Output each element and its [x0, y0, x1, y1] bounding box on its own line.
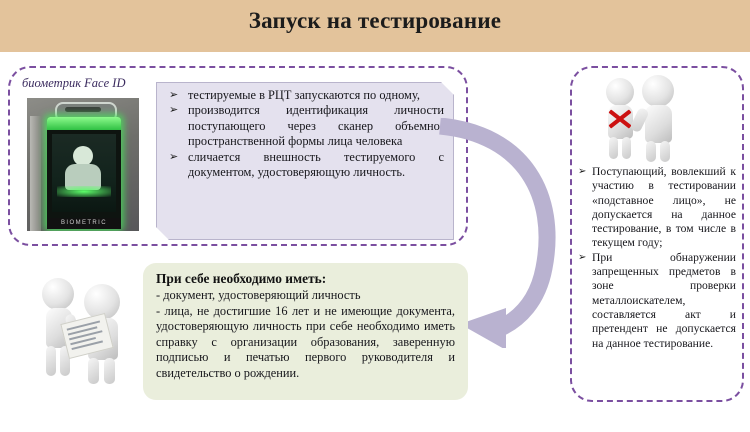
arrow-bullet-icon: ➢ — [578, 251, 586, 265]
figure-torso — [645, 105, 672, 143]
figure-head — [642, 75, 674, 107]
kiosk-pole — [30, 116, 41, 231]
arrow-bullet-icon: ➢ — [169, 103, 178, 118]
figure-leg — [88, 358, 99, 384]
figures-reading-document — [24, 262, 144, 384]
kiosk-camera-slot — [65, 107, 101, 112]
procedure-item-1-text: тестируемые в РЦТ запускаются по одному, — [188, 88, 420, 102]
figure-head — [606, 78, 634, 106]
violation-item-2-text: При обнаружении запрещенных предметов в … — [592, 251, 736, 350]
requirements-panel: При себе необходимо иметь: - документ, у… — [143, 263, 468, 400]
procedure-item-1: ➢ тестируемые в РЦТ запускаются по одном… — [166, 88, 444, 103]
arrow-bullet-icon: ➢ — [578, 165, 586, 179]
violation-item-1: ➢ Поступающий, вовлекший к участию в тес… — [578, 165, 736, 251]
scanned-face-head — [73, 146, 93, 166]
red-x-icon — [607, 106, 633, 132]
figure-head — [42, 278, 74, 310]
figure-leg — [46, 346, 56, 376]
requirements-heading: При себе необходимо иметь: — [156, 270, 455, 287]
figures-with-red-x — [598, 74, 716, 162]
kiosk-green-led-glow — [47, 117, 121, 130]
figure-leg — [622, 137, 631, 159]
violation-item-2: ➢ При обнаружении запрещенных предметов … — [578, 251, 736, 351]
procedure-panel: ➢ тестируемые в РЦТ запускаются по одном… — [156, 82, 454, 240]
arrow-bullet-icon: ➢ — [169, 88, 178, 103]
biometric-kiosk-photo: BIOMETRIC — [27, 98, 139, 231]
violation-item-1-text: Поступающий, вовлекший к участию в тести… — [592, 165, 736, 249]
procedure-item-3: ➢ сличается внешность тестируемого с док… — [166, 150, 444, 181]
biometric-caption: биометрик Face ID — [22, 76, 172, 91]
figure-leg — [660, 141, 670, 162]
figure-leg — [646, 141, 656, 162]
figure-leg — [609, 137, 618, 159]
page-title: Запуск на тестирование — [0, 8, 750, 34]
procedure-item-2: ➢ производится идентификация личности по… — [166, 103, 444, 149]
kiosk-scan-line — [57, 186, 111, 197]
kiosk-brand-label: BIOMETRIC — [47, 218, 121, 229]
procedure-item-2-text: производится идентификация личности пост… — [188, 103, 444, 148]
figure-leg — [104, 358, 115, 384]
requirements-item-1: - документ, удостоверяющий личность — [156, 288, 455, 304]
violations-text: ➢ Поступающий, вовлекший к участию в тес… — [578, 165, 736, 397]
requirements-item-2: - лица, не достигшие 16 лет и не имеющие… — [156, 304, 455, 382]
arrow-bullet-icon: ➢ — [169, 150, 178, 165]
procedure-item-3-text: сличается внешность тестируемого с докум… — [188, 150, 444, 179]
